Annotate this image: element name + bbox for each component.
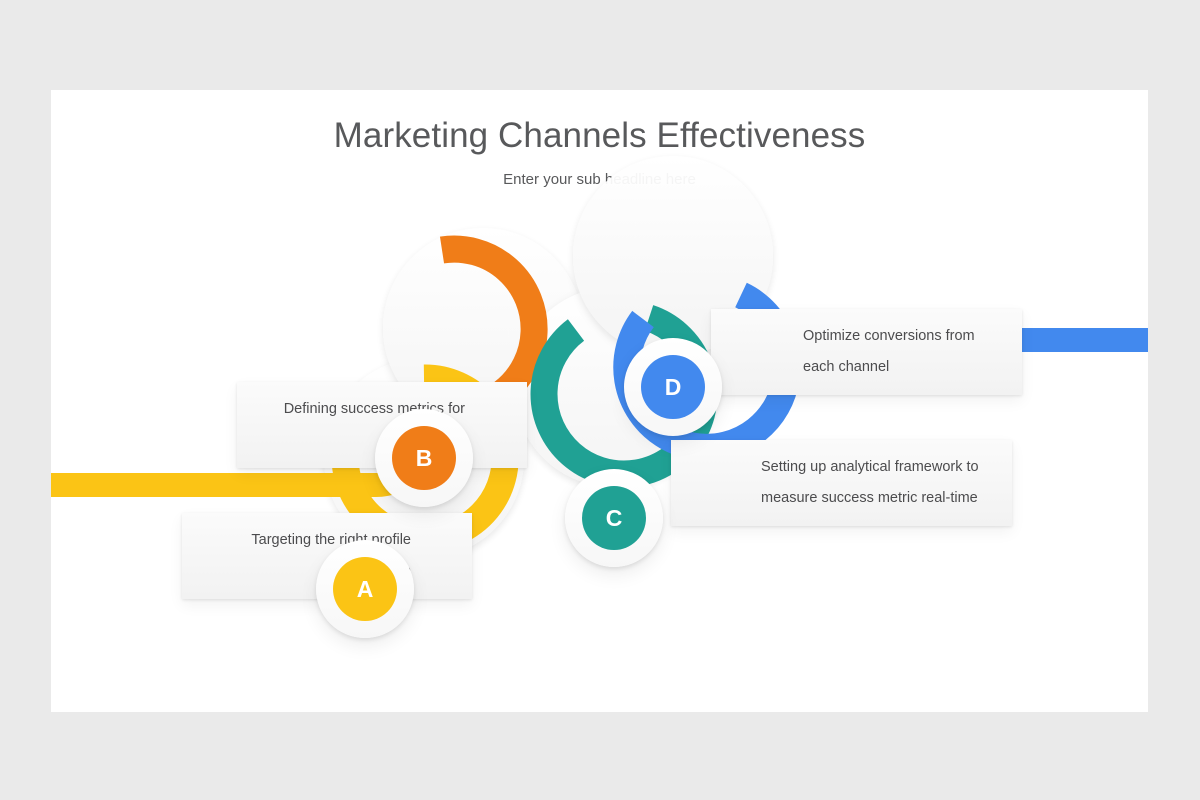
label-card-d[interactable]: Optimize conversions from each channel (711, 309, 1022, 395)
label-card-c[interactable]: Setting up analytical framework to measu… (671, 440, 1012, 526)
node-badge-c-label: C (606, 507, 623, 530)
node-badge-d-label: D (665, 376, 682, 399)
label-card-d-line-2: each channel (803, 352, 889, 383)
label-card-c-line-1: Setting up analytical framework to (761, 452, 979, 483)
node-badge-c[interactable]: C (582, 486, 646, 550)
node-badge-a[interactable]: A (333, 557, 397, 621)
ring-chain-graphic (51, 90, 1148, 712)
node-badge-d[interactable]: D (641, 355, 705, 419)
slide-surface: Marketing Channels Effectiveness Enter y… (51, 90, 1148, 712)
node-badge-b-label: B (416, 447, 433, 470)
label-card-c-line-2: measure success metric real-time (761, 483, 978, 514)
node-badge-a-label: A (357, 578, 374, 601)
label-card-d-line-1: Optimize conversions from (803, 321, 975, 352)
node-badge-b[interactable]: B (392, 426, 456, 490)
infographic-diagram: Defining success metrics for each channe… (51, 90, 1148, 712)
slide-canvas: Marketing Channels Effectiveness Enter y… (0, 0, 1200, 800)
